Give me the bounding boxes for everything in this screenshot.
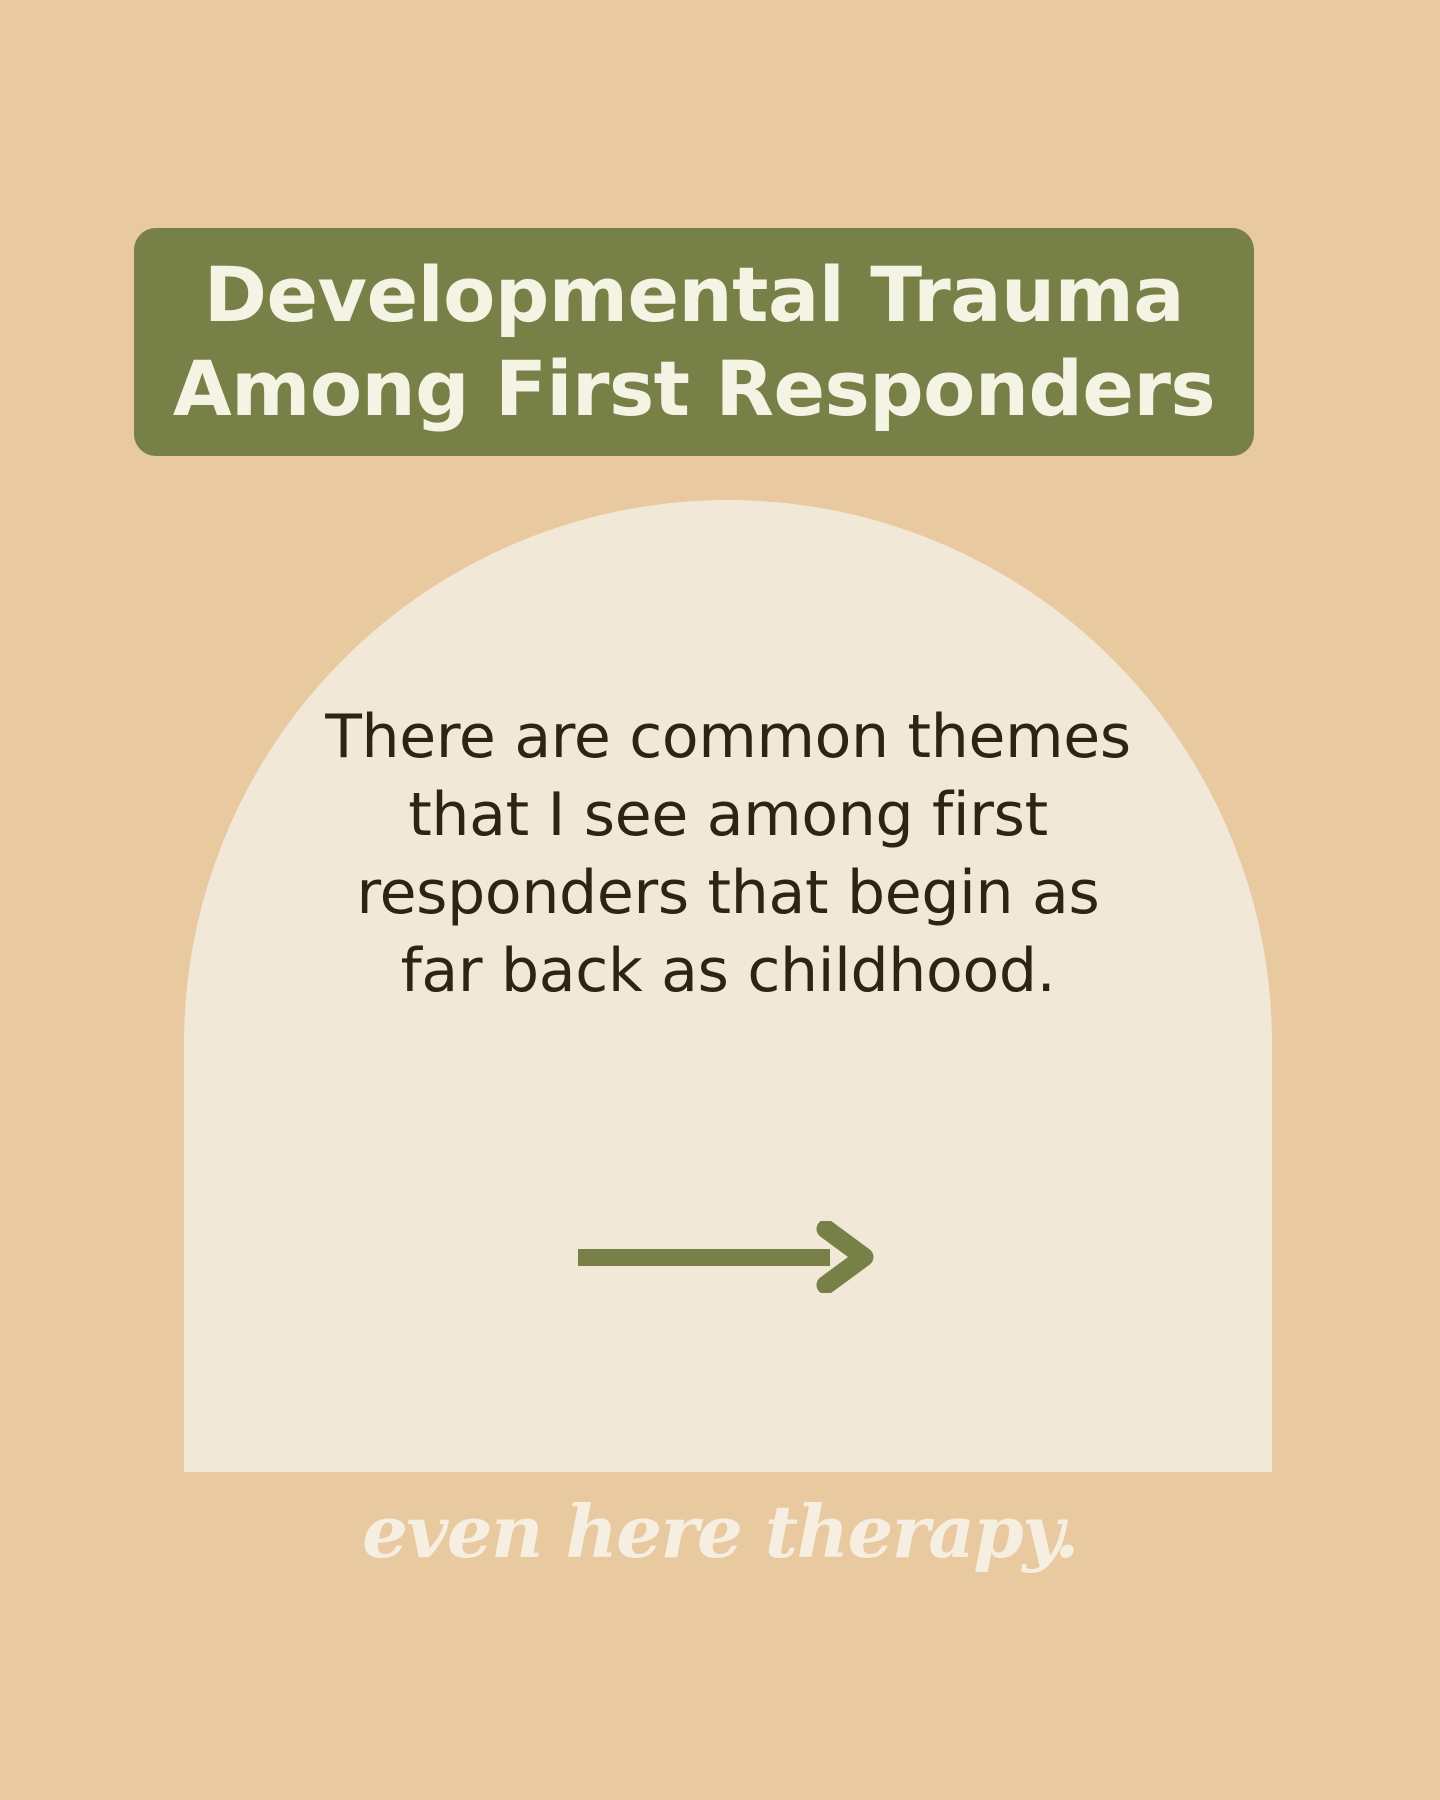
arch-card: There are common themes that I see among… — [184, 500, 1272, 1472]
title-line-2: Among First Responders — [173, 342, 1215, 436]
title-line-1: Developmental Trauma — [204, 248, 1184, 342]
post-canvas: Developmental Trauma Among First Respond… — [0, 0, 1440, 1800]
body-text: There are common themes that I see among… — [308, 698, 1148, 1010]
arrow-right-icon[interactable] — [558, 1212, 898, 1302]
title-banner: Developmental Trauma Among First Respond… — [134, 228, 1254, 456]
arch-card-inner: There are common themes that I see among… — [184, 500, 1272, 1472]
brand-wordmark: even here therapy. — [0, 1496, 1440, 1568]
